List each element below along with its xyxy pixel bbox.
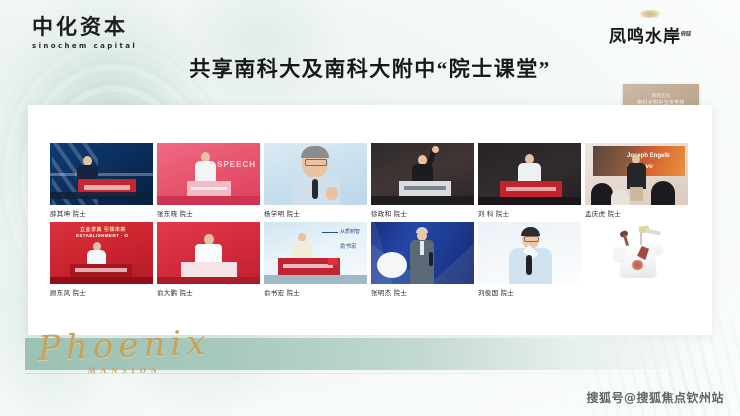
gallery-item[interactable]: 从质到智 俞书宏 俞书宏 院士 <box>264 222 367 297</box>
photo-blue-polygon-stage-icon <box>371 222 474 284</box>
banner-text-line2: 俞书宏 <box>340 242 357 250</box>
academician-name: 张东晓 院士 <box>157 208 260 218</box>
academician-photo: SPEECH <box>157 143 260 205</box>
academician-photo <box>50 143 153 205</box>
academician-photo: 立业求真 引领未来 ESTABLISHMENT · O <box>50 222 153 284</box>
photo-closeup-microphone-icon <box>264 143 367 205</box>
photo-red-backdrop-white-shirt-icon <box>157 222 260 284</box>
academician-name: 俞书宏 院士 <box>264 287 367 297</box>
academician-photo <box>157 222 260 284</box>
brand-decorative-dots: · · · · · · · · · · · · · <box>584 10 716 18</box>
slide-canvas: 中化资本 sinochem capital · · · · · · · · · … <box>0 0 740 416</box>
academician-name: 徐政和 院士 <box>371 208 474 218</box>
banner-text-line1: 立业求真 引领未来 <box>80 226 126 233</box>
gallery-item[interactable]: 杨学明 院士 <box>264 143 367 218</box>
gallery-item[interactable]: 张明杰 院士 <box>371 222 474 297</box>
footer-divider <box>25 373 740 374</box>
brand-seal-icon <box>639 10 661 18</box>
podium-illustration <box>585 222 688 284</box>
academician-name: 刘俊国 院士 <box>478 287 581 297</box>
academician-name: 薛其坤 院士 <box>50 208 153 218</box>
brand-sinochem-cn: 中化资本 <box>32 16 137 38</box>
photo-conference-screen-icon: Joseph Engelb rge Devo <box>585 143 688 205</box>
academician-photo <box>371 222 474 284</box>
gallery-item[interactable]: 俞大鹏 院士 <box>157 222 260 297</box>
podium-icon <box>585 222 688 284</box>
photo-red-banner-stage-icon: 立业求真 引领未来 ESTABLISHMENT · O <box>50 222 153 284</box>
academician-name: 俞大鹏 院士 <box>157 287 260 297</box>
academician-photo <box>478 222 581 284</box>
academician-name: 孟庆虎 院士 <box>585 208 688 218</box>
academician-photo <box>478 143 581 205</box>
academician-photo: Joseph Engelb rge Devo <box>585 143 688 205</box>
photo-blue-banner-red-podium-icon: 从质到智 俞书宏 <box>264 222 367 284</box>
brand-phoenix-suffix: 府邸 <box>681 32 691 37</box>
academician-photo: 从质到智 俞书宏 <box>264 222 367 284</box>
academician-name: 张明杰 院士 <box>371 287 474 297</box>
brand-phoenix-name: 凤鸣水岸 <box>609 27 681 46</box>
academician-photo <box>264 143 367 205</box>
sohu-watermark: 搜狐号@搜狐焦点钦州站 <box>586 389 724 406</box>
gallery-item[interactable]: 刘俊国 院士 <box>478 222 581 297</box>
gallery-item[interactable]: 刘 科 院士 <box>478 143 581 218</box>
location-badge-line1: 项目区位 <box>651 94 671 99</box>
gallery-item[interactable]: Joseph Engelb rge Devo 孟庆虎 院士 <box>585 143 688 218</box>
phoenix-script-text: Phoenix <box>37 323 211 369</box>
photo-pink-speech-backdrop-icon: SPEECH <box>157 143 260 205</box>
photo-dark-stage-red-podium-icon <box>478 143 581 205</box>
brand-phoenix-cn: 凤鸣水岸府邸 <box>584 22 716 47</box>
gallery-item[interactable]: 徐政和 院士 <box>371 143 474 218</box>
gallery-item[interactable]: SPEECH 张东晓 院士 <box>157 143 260 218</box>
brand-sinochem-capital: 中化资本 sinochem capital <box>32 16 137 50</box>
phoenix-mansion-logo: Phoenix MANSION <box>30 326 230 378</box>
academician-gallery-grid: 薛其坤 院士 SPEECH 张东晓 院士 杨学明 院士 <box>50 143 690 297</box>
page-title: 共享南科大及南科大附中“院士课堂” <box>0 53 740 83</box>
backdrop-text: SPEECH <box>217 160 256 169</box>
banner-text-line1: 从质到智 <box>340 228 360 235</box>
gallery-item-illustration <box>585 222 688 297</box>
photo-lecture-blue-stage-icon <box>50 143 153 205</box>
academician-name: 杨学明 院士 <box>264 208 367 218</box>
academician-name: 顾东风 院士 <box>50 287 153 297</box>
gallery-item[interactable]: 薛其坤 院士 <box>50 143 153 218</box>
photo-arm-raised-podium-icon <box>371 143 474 205</box>
academician-name: 刘 科 院士 <box>478 208 581 218</box>
photo-light-background-microphone-icon <box>478 222 581 284</box>
banner-text-line2: ESTABLISHMENT · O <box>76 233 128 238</box>
academician-photo <box>371 143 474 205</box>
brand-sinochem-en: sinochem capital <box>32 42 137 50</box>
brand-phoenix-waterfront: · · · · · · · · · · · · · 凤鸣水岸府邸 <box>584 10 716 47</box>
gallery-item[interactable]: 立业求真 引领未来 ESTABLISHMENT · O 顾东风 院士 <box>50 222 153 297</box>
